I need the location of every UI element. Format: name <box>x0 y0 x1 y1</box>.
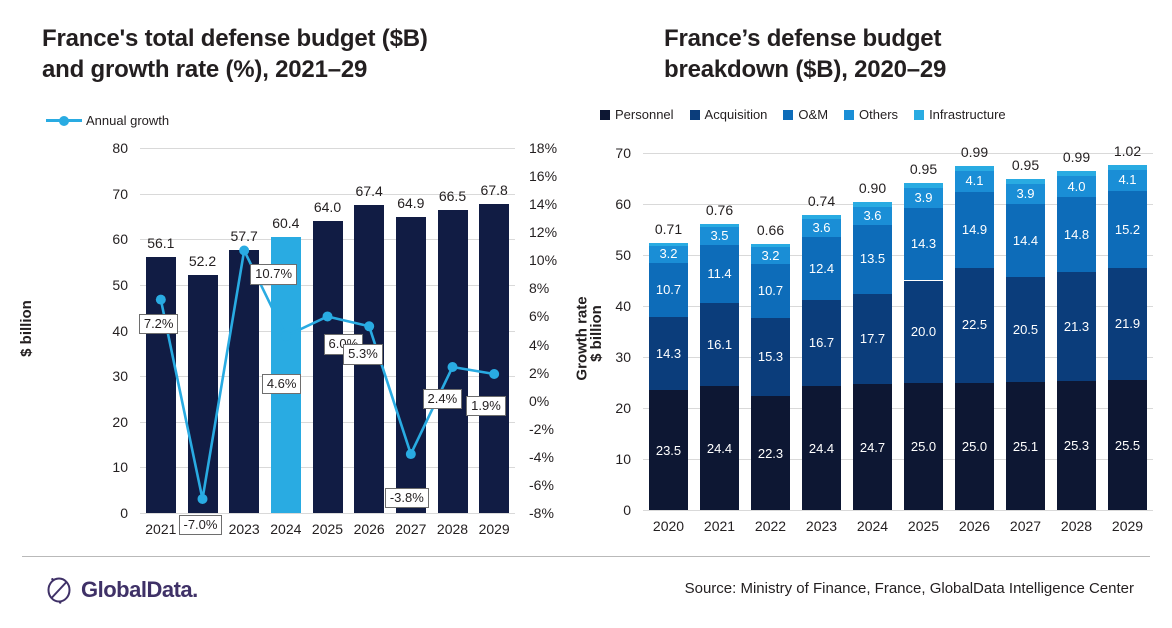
legend-item-others[interactable]: Others <box>844 107 898 122</box>
right-chart-segment-value: 14.4 <box>1000 234 1051 247</box>
right-chart-total-label: 0.99 <box>1051 149 1102 165</box>
right-chart-segment-value: 13.5 <box>847 252 898 265</box>
annual-growth-value-label: 1.9% <box>466 396 506 416</box>
right-chart-segment-value: 3.9 <box>1000 187 1051 200</box>
right-chart-segment-value: 20.5 <box>1000 323 1051 336</box>
left-chart-y-tick: 60 <box>112 231 128 247</box>
right-chart-segment-value: 3.6 <box>796 221 847 234</box>
right-chart-y-tick: 0 <box>623 502 631 518</box>
left-chart-y2-tick: -4% <box>529 449 554 465</box>
left-chart-y2-tick: -8% <box>529 505 554 521</box>
right-chart-bar-segment[interactable] <box>904 183 943 188</box>
left-chart-y2-tick: 14% <box>529 196 557 212</box>
left-chart-y2-tick: 0% <box>529 393 549 409</box>
right-chart-y-axis-title: $ billion <box>588 305 605 362</box>
right-chart-segment-value: 24.4 <box>796 442 847 455</box>
right-chart-segment-value: 16.1 <box>694 338 745 351</box>
right-chart-segment-value: 15.2 <box>1102 223 1153 236</box>
right-chart-total-label: 0.99 <box>949 144 1000 160</box>
left-chart-y-tick: 70 <box>112 186 128 202</box>
right-chart-segment-value: 4.0 <box>1051 180 1102 193</box>
right-chart-x-tick: 2020 <box>643 518 694 534</box>
right-chart-segment-value: 22.3 <box>745 447 796 460</box>
right-chart-segment-value: 25.5 <box>1102 439 1153 452</box>
right-chart-segment-value: 3.9 <box>898 191 949 204</box>
left-chart-x-tick: 2023 <box>223 521 265 537</box>
left-chart-y2-tick: 12% <box>529 224 557 240</box>
left-chart-x-tick: 2021 <box>140 521 182 537</box>
left-chart-y2-tick: 2% <box>529 365 549 381</box>
left-chart-y2-tick: 18% <box>529 140 557 156</box>
right-chart-segment-value: 3.2 <box>745 249 796 262</box>
right-chart-x-tick: 2023 <box>796 518 847 534</box>
right-chart-segment-value: 25.0 <box>949 440 1000 453</box>
annual-growth-value-label: 5.3% <box>343 344 383 364</box>
right-chart-total-label: 0.71 <box>643 221 694 237</box>
right-chart-segment-value: 20.0 <box>898 325 949 338</box>
legend-label: Personnel <box>615 107 674 122</box>
left-chart-y2-tick: -2% <box>529 421 554 437</box>
left-chart-x-tick: 2029 <box>473 521 515 537</box>
annual-growth-value-label: 2.4% <box>423 389 463 409</box>
left-chart-x-tick: 2025 <box>307 521 349 537</box>
left-chart-y-tick: 20 <box>112 414 128 430</box>
annual-growth-point[interactable] <box>281 331 291 341</box>
infographic-root: France's total defense budget ($B)and gr… <box>0 0 1172 628</box>
globaldata-mark-icon <box>44 575 74 605</box>
right-chart-segment-value: 21.3 <box>1051 320 1102 333</box>
footer-divider <box>22 556 1150 557</box>
legend-item-personnel[interactable]: Personnel <box>600 107 674 122</box>
annual-growth-point[interactable] <box>198 494 208 504</box>
legend-item-infrastructure[interactable]: Infrastructure <box>914 107 1006 122</box>
left-chart-legend: Annual growth <box>46 113 169 128</box>
legend-swatch-icon <box>844 110 854 120</box>
right-chart-segment-value: 12.4 <box>796 262 847 275</box>
right-chart-bar-segment[interactable] <box>649 243 688 247</box>
right-chart-segment-value: 17.7 <box>847 332 898 345</box>
left-chart-y2-tick: 8% <box>529 280 549 296</box>
right-chart-x-tick: 2029 <box>1102 518 1153 534</box>
right-chart-segment-value: 25.3 <box>1051 439 1102 452</box>
right-chart-segment-value: 3.6 <box>847 209 898 222</box>
annual-growth-point[interactable] <box>239 245 249 255</box>
annual-growth-point[interactable] <box>323 311 333 321</box>
left-chart-gridline <box>140 513 515 514</box>
annual-growth-value-label: -7.0% <box>179 515 223 535</box>
globaldata-logo: GlobalData. <box>44 575 198 605</box>
right-chart-bar-segment[interactable] <box>700 224 739 228</box>
left-chart-y-tick: 30 <box>112 368 128 384</box>
right-chart-segment-value: 25.0 <box>898 440 949 453</box>
right-chart-x-tick: 2025 <box>898 518 949 534</box>
annual-growth-point[interactable] <box>406 449 416 459</box>
annual-growth-line <box>140 148 515 513</box>
right-chart-y-tick: 20 <box>615 400 631 416</box>
right-chart-segment-value: 11.4 <box>694 267 745 280</box>
right-chart-total-label: 0.66 <box>745 222 796 238</box>
left-chart-y2-tick: 10% <box>529 252 557 268</box>
globaldata-logo-text: GlobalData. <box>81 577 198 603</box>
right-chart-total-label: 0.95 <box>1000 157 1051 173</box>
right-chart-segment-value: 4.1 <box>949 174 1000 187</box>
left-chart-x-tick: 2026 <box>348 521 390 537</box>
right-chart-y-tick: 40 <box>615 298 631 314</box>
right-chart-segment-value: 15.3 <box>745 350 796 363</box>
right-chart-total-label: 0.74 <box>796 193 847 209</box>
legend-label: Infrastructure <box>929 107 1006 122</box>
right-chart-segment-value: 23.5 <box>643 444 694 457</box>
right-chart-legend: PersonnelAcquisitionO&MOthersInfrastruct… <box>600 107 1022 122</box>
left-chart-x-tick: 2027 <box>390 521 432 537</box>
right-chart-segment-value: 3.5 <box>694 229 745 242</box>
left-chart-y-axis-title: $ billion <box>18 300 35 357</box>
right-chart-segment-value: 14.3 <box>643 347 694 360</box>
right-chart-segment-value: 3.2 <box>643 247 694 260</box>
left-chart-y-tick: 40 <box>112 323 128 339</box>
right-chart-gridline <box>643 510 1153 511</box>
legend-swatch-icon <box>783 110 793 120</box>
right-chart-bar-segment[interactable] <box>1108 165 1147 170</box>
annual-growth-point[interactable] <box>448 362 458 372</box>
legend-item-o-m[interactable]: O&M <box>783 107 828 122</box>
right-chart-segment-value: 4.1 <box>1102 173 1153 186</box>
right-chart-y-tick: 10 <box>615 451 631 467</box>
left-chart-y-tick: 50 <box>112 277 128 293</box>
right-chart-bar-segment[interactable] <box>955 166 994 171</box>
right-chart-segment-value: 14.8 <box>1051 228 1102 241</box>
left-chart-y2-tick: -6% <box>529 477 554 493</box>
right-chart-total-label: 0.90 <box>847 180 898 196</box>
right-chart-segment-value: 14.3 <box>898 237 949 250</box>
annual-growth-legend-label: Annual growth <box>86 113 169 128</box>
annual-growth-value-label: 10.7% <box>250 264 297 284</box>
right-chart-title: France’s defense budgetbreakdown ($B), 2… <box>664 24 1094 85</box>
right-chart-segment-value: 16.7 <box>796 336 847 349</box>
right-chart-y-tick: 70 <box>615 145 631 161</box>
left-chart-plot: 01020304050607080-8%-6%-4%-2%0%2%4%6%8%1… <box>140 148 515 513</box>
right-chart-bar-segment[interactable] <box>751 244 790 247</box>
right-chart-segment-value: 22.5 <box>949 318 1000 331</box>
right-chart-bar-segment[interactable] <box>1057 171 1096 176</box>
annual-growth-value-label: 4.6% <box>262 374 302 394</box>
left-chart-title: France's total defense budget ($B)and gr… <box>42 24 542 85</box>
right-chart-x-tick: 2021 <box>694 518 745 534</box>
annual-growth-point[interactable] <box>156 295 166 305</box>
right-chart-x-tick: 2027 <box>1000 518 1051 534</box>
left-chart-y2-tick: 6% <box>529 308 549 324</box>
right-chart-total-label: 0.95 <box>898 161 949 177</box>
right-chart-x-tick: 2022 <box>745 518 796 534</box>
left-chart-y-tick: 10 <box>112 459 128 475</box>
left-chart-x-tick: 2024 <box>265 521 307 537</box>
left-chart-y-tick: 80 <box>112 140 128 156</box>
legend-label: Acquisition <box>705 107 768 122</box>
left-chart-y2-tick: 4% <box>529 337 549 353</box>
right-chart-y-tick: 30 <box>615 349 631 365</box>
annual-growth-value-label: 7.2% <box>139 314 179 334</box>
left-chart-y-tick: 0 <box>120 505 128 521</box>
right-chart-total-label: 0.76 <box>694 202 745 218</box>
annual-growth-point[interactable] <box>489 369 499 379</box>
right-chart-segment-value: 21.9 <box>1102 317 1153 330</box>
annual-growth-legend-marker-icon <box>46 119 82 122</box>
left-chart-y2-tick: 16% <box>529 168 557 184</box>
right-chart-segment-value: 24.4 <box>694 442 745 455</box>
legend-label: O&M <box>798 107 828 122</box>
right-chart-total-label: 1.02 <box>1102 143 1153 159</box>
right-chart-x-tick: 2026 <box>949 518 1000 534</box>
right-chart-segment-value: 10.7 <box>745 284 796 297</box>
legend-swatch-icon <box>690 110 700 120</box>
right-chart-y-tick: 50 <box>615 247 631 263</box>
legend-swatch-icon <box>914 110 924 120</box>
right-chart-segment-value: 24.7 <box>847 441 898 454</box>
left-chart-x-tick: 2028 <box>432 521 474 537</box>
right-chart-segment-value: 25.1 <box>1000 440 1051 453</box>
right-chart-bar-segment[interactable] <box>802 215 841 219</box>
right-chart-x-tick: 2028 <box>1051 518 1102 534</box>
right-chart-y-tick: 60 <box>615 196 631 212</box>
right-chart-segment-value: 14.9 <box>949 223 1000 236</box>
right-chart-plot: 01020304050607023.514.310.73.20.71202024… <box>643 153 1153 510</box>
source-note: Source: Ministry of Finance, France, Glo… <box>685 580 1134 597</box>
annual-growth-point[interactable] <box>364 321 374 331</box>
right-chart-bar-segment[interactable] <box>1006 179 1045 184</box>
legend-swatch-icon <box>600 110 610 120</box>
right-chart-x-tick: 2024 <box>847 518 898 534</box>
right-chart-bar-segment[interactable] <box>853 202 892 207</box>
legend-item-acquisition[interactable]: Acquisition <box>690 107 768 122</box>
annual-growth-value-label: -3.8% <box>385 488 429 508</box>
right-chart-segment-value: 10.7 <box>643 283 694 296</box>
legend-label: Others <box>859 107 898 122</box>
